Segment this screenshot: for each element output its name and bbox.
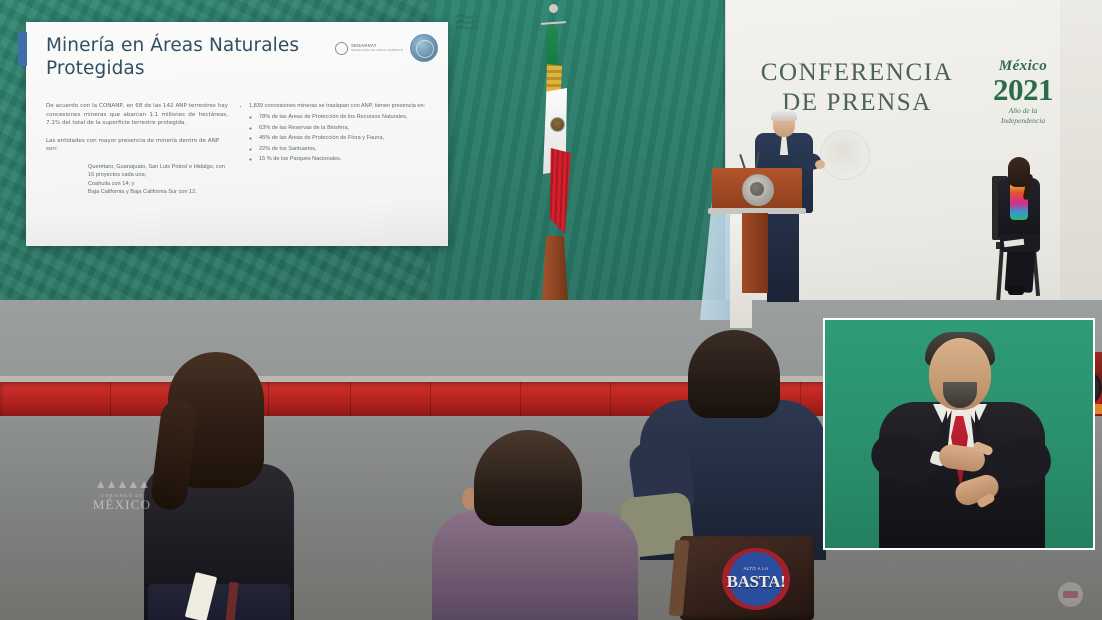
gobierno-line-2: MÉXICO xyxy=(66,498,178,512)
mexico-logo-subtitle-1: Año de la xyxy=(975,106,1071,115)
slide-title: Minería en Áreas Naturales Protegidas xyxy=(46,34,316,80)
slide-sub-bullet-list: 78% de las Áreas de Protección de los Re… xyxy=(249,113,430,163)
speaker-hair xyxy=(771,109,797,121)
audience-member-purple xyxy=(432,430,642,620)
slide-bullet-list: 1,839 concesiones mineras se traslapan c… xyxy=(240,102,430,163)
basta-badge: ALTO A LA BASTA! xyxy=(722,548,790,610)
flag-red-band xyxy=(549,148,571,234)
semarnat-logo: SEMARNAT SECRETARÍA DE MEDIO AMBIENTE xyxy=(335,42,403,55)
flag-finial-icon xyxy=(549,4,558,13)
flag-eagle-emblem-icon xyxy=(551,118,564,131)
slide-logo-group: SEMARNAT SECRETARÍA DE MEDIO AMBIENTE xyxy=(335,34,438,62)
podium xyxy=(712,168,802,293)
broadcast-frame: ≋≋≋≋≋≋≋≋≋≋≋≋≋≋≋≋≋≋≋≋≋≋ Minería en Áreas … xyxy=(0,0,1102,620)
flag-cloth xyxy=(542,26,569,226)
list-item: 15 % de los Parques Nacionales. xyxy=(259,155,430,163)
seated-attendee xyxy=(990,160,1056,305)
audience-hair xyxy=(474,430,582,526)
audience-chair xyxy=(148,584,290,620)
flag-base xyxy=(542,236,568,300)
chair-leg xyxy=(996,248,1004,300)
sign-language-interpreter-inset xyxy=(823,318,1095,550)
gobierno-de-mexico-watermark: ▲▲▲▲▲ GOBIERNO DE MÉXICO xyxy=(66,478,178,534)
watermark-mark-icon xyxy=(1063,591,1078,598)
slide-bullet-main: 1,839 concesiones mineras se traslapan c… xyxy=(249,103,425,109)
slide-accent-bar xyxy=(18,32,27,66)
mexican-flag xyxy=(534,8,576,308)
mexico-logo-year: 2021 xyxy=(975,75,1071,105)
list-item: 78% de las Áreas de Protección de los Re… xyxy=(259,113,430,121)
basta-badge-small-text: ALTO A LA xyxy=(744,566,769,571)
list-item: Baja California y Baja California Sur co… xyxy=(88,188,228,196)
mexico-logo-subtitle-2: Independencia xyxy=(975,116,1071,125)
channel-watermark[interactable] xyxy=(1053,582,1087,607)
list-item: 22% de los Santuarios, xyxy=(259,145,430,153)
audience-torso xyxy=(432,512,638,620)
national-seal-icon xyxy=(742,174,774,206)
audience-hair xyxy=(688,330,780,418)
slide-entities-list: Querétaro, Guanajuato, San Luis Potosí e… xyxy=(46,163,228,197)
slide-paragraph-2: Las entidades con mayor presencia de min… xyxy=(46,137,228,154)
list-item: 63% de las Reservas de la Biosfera, xyxy=(259,124,430,132)
white-wall-far-right xyxy=(1060,0,1102,340)
semarnat-mark-icon xyxy=(335,42,348,55)
basta-bag: ALTO A LA BASTA! xyxy=(680,536,814,620)
conanp-logo-icon xyxy=(410,34,438,62)
attendee-shoe xyxy=(1008,286,1024,295)
list-item: Querétaro, Guanajuato, San Luis Potosí e… xyxy=(88,163,228,180)
presentation-slide: Minería en Áreas Naturales Protegidas SE… xyxy=(26,22,448,246)
slide-left-column: De acuerdo con la CONANP, en 68 de las 1… xyxy=(46,102,228,197)
slide-right-column: 1,839 concesiones mineras se traslapan c… xyxy=(240,102,430,197)
conference-title-line-1: CONFERENCIA xyxy=(752,58,962,88)
basta-badge-text: BASTA! xyxy=(727,572,786,592)
watermark-circle-icon xyxy=(1058,582,1083,607)
gobierno-crest-icon: ▲▲▲▲▲ xyxy=(66,478,178,490)
wall-seal-emblem xyxy=(820,130,870,180)
semarnat-logo-sub: SECRETARÍA DE MEDIO AMBIENTE xyxy=(351,48,403,53)
list-item: 45% de las Áreas de Protección de Flora … xyxy=(259,134,430,142)
mexico-2021-logo: México 2021 Año de la Independencia xyxy=(975,58,1071,125)
list-item: 1,839 concesiones mineras se traslapan c… xyxy=(249,102,430,163)
slide-paragraph-1: De acuerdo con la CONANP, en 68 de las 1… xyxy=(46,102,228,128)
speaker-hand xyxy=(815,160,825,169)
slide-body: De acuerdo con la CONANP, en 68 de las 1… xyxy=(46,102,436,197)
list-item: Coahuila con 14; y xyxy=(88,180,228,188)
podium-stem xyxy=(742,213,768,293)
